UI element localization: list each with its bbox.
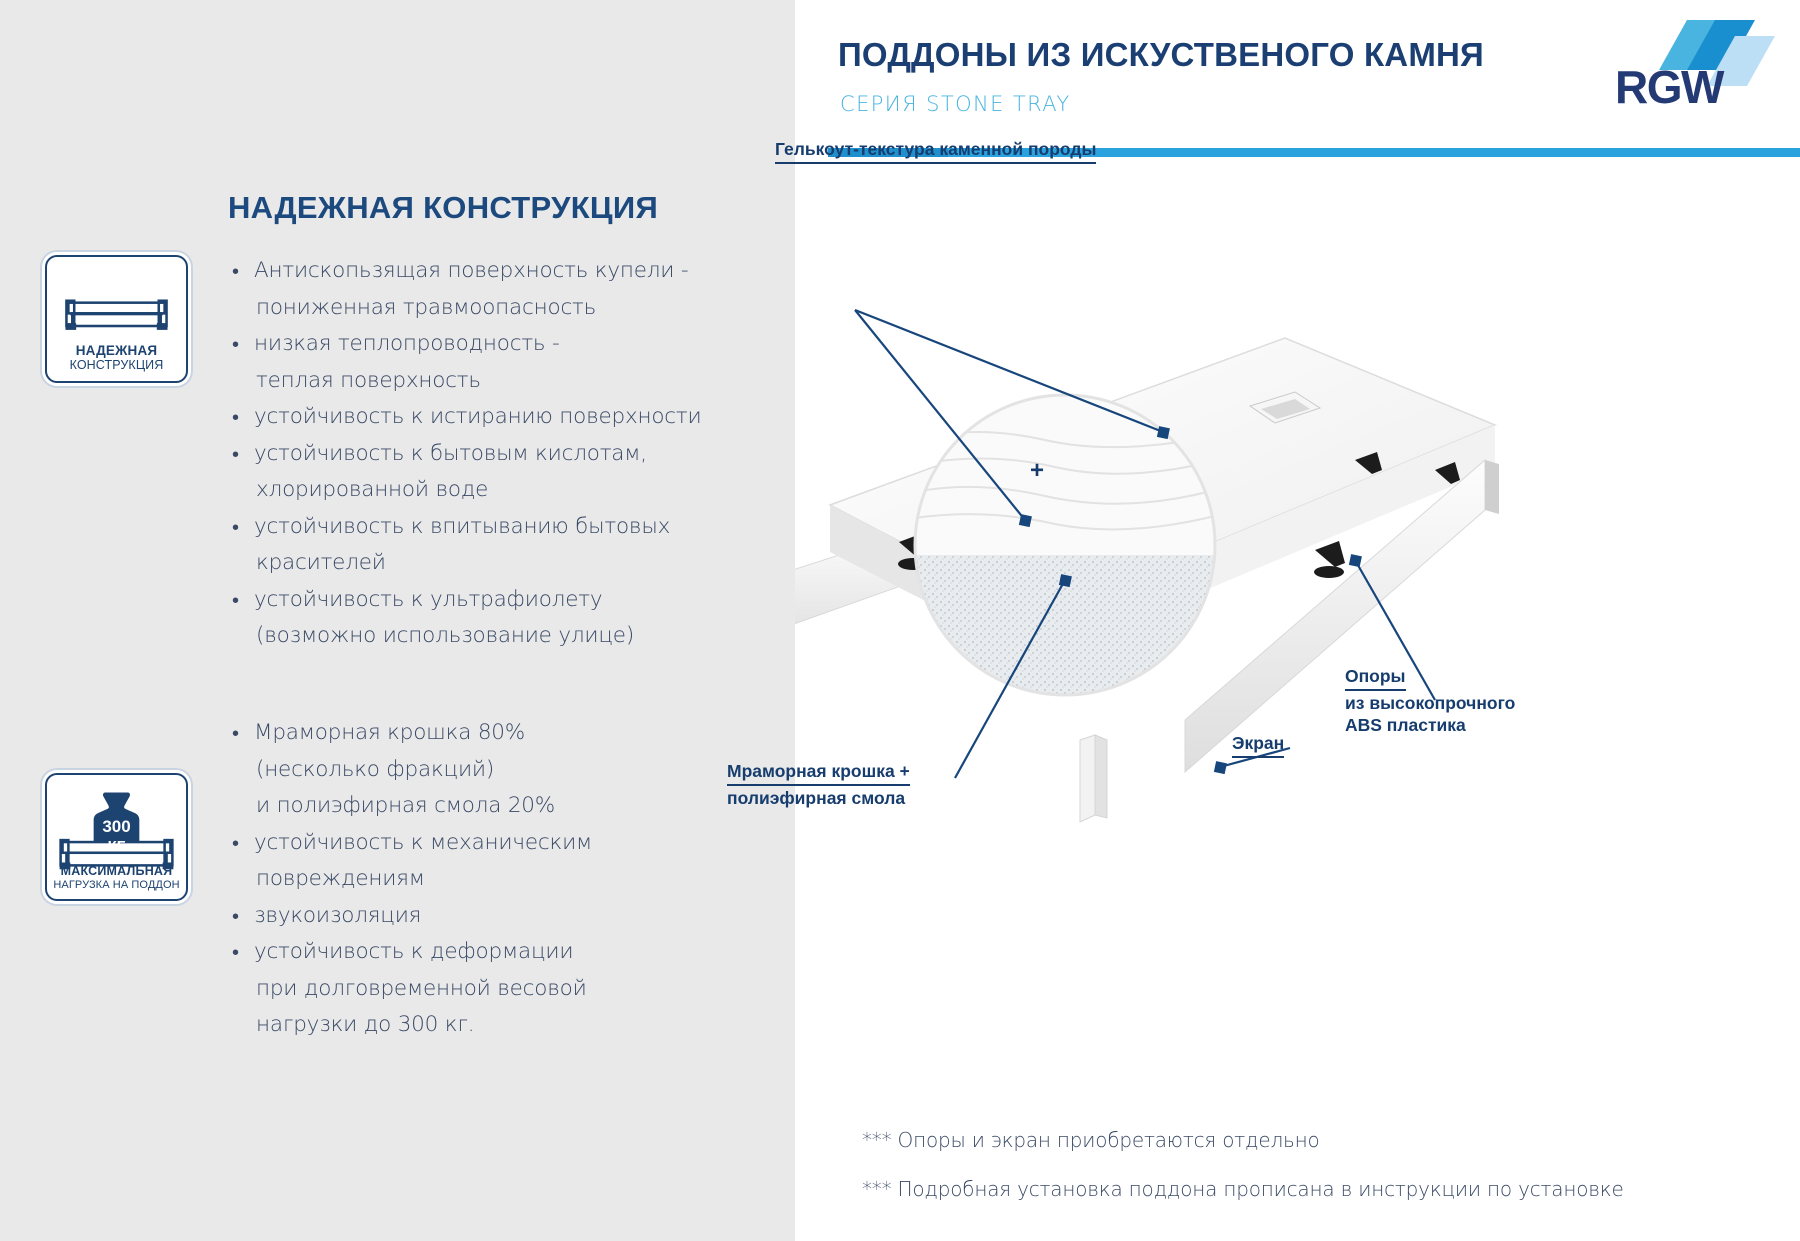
bullet-item: устойчивость к впитыванию бытовыхкрасите… xyxy=(228,509,758,582)
bullet-line: Антископьзящая поверхность купели - xyxy=(254,253,758,290)
logo-wordmark: RGW xyxy=(1615,60,1723,114)
bullet-line: устойчивость к механическим xyxy=(254,825,758,862)
bullet-line: теплая поверхность xyxy=(254,363,758,400)
label-marble-line2: полиэфирная смола xyxy=(727,787,905,809)
bullet-item: устойчивость к ультрафиолету(возможно ис… xyxy=(228,582,758,655)
bullet-line: красителей xyxy=(254,545,758,582)
corner-connector xyxy=(1080,735,1107,822)
bullet-item: Мраморная крошка 80%(несколько фракций) … xyxy=(228,715,758,825)
bullet-line: устойчивость к истиранию поверхности xyxy=(254,399,758,436)
section-heading: НАДЕЖНАЯ КОНСТРУКЦИЯ xyxy=(228,190,658,226)
weight-value-text: 300 КГ xyxy=(47,817,186,856)
label-marble-line1: Мраморная крошка + xyxy=(727,760,910,786)
bullet-item: Антископьзящая поверхность купели -пониж… xyxy=(228,253,758,326)
bullet-item: устойчивость к истиранию поверхности xyxy=(228,399,758,436)
page-title: ПОДДОНЫ ИЗ ИСКУСТВЕНОГО КАМНЯ xyxy=(838,36,1484,74)
zoom-plus-icon: + xyxy=(1030,460,1044,482)
bullet-line: и полиэфирная смола 20% xyxy=(254,788,758,825)
bullet-item: устойчивость к бытовым кислотам,хлориров… xyxy=(228,436,758,509)
bullet-list-1: Антископьзящая поверхность купели -пониж… xyxy=(228,253,758,655)
badge-reliable-construction: НАДЕЖНАЯ КОНСТРУКЦИЯ xyxy=(45,255,188,383)
label-gelcoat: Гелькоут-текстура каменной породы xyxy=(775,138,1096,164)
bullet-line: низкая теплопроводность - xyxy=(254,326,758,363)
footnote-2: *** Подробная установка поддона прописан… xyxy=(862,1177,1624,1201)
rgw-logo: RGW xyxy=(1615,18,1785,128)
product-diagram: Гелькоут-текстура каменной породы + Мрам… xyxy=(795,160,1800,1060)
bullet-line: Мраморная крошка 80% xyxy=(254,715,758,752)
weight-unit: КГ xyxy=(108,838,126,855)
label-supports-line2: из высокопрочного xyxy=(1345,692,1515,714)
badge-reliable-label: НАДЕЖНАЯ КОНСТРУКЦИЯ xyxy=(47,344,186,373)
bullet-item: звукоизоляция xyxy=(228,898,758,935)
bullet-line: нагрузки до 300 кг. xyxy=(254,1007,758,1044)
poster-page: НАДЕЖНАЯ КОНСТРУКЦИЯ xyxy=(0,0,1800,1241)
badge-max-load: 300 КГ МАКСИМАЛЬНАЯ НАГРУЗКА НА ПОДДОН xyxy=(45,773,188,901)
bullet-line: звукоизоляция xyxy=(254,898,758,935)
bullet-line: пониженная травмоопасность xyxy=(254,290,758,327)
diagram-illustration xyxy=(795,160,1800,1060)
weight-number: 300 xyxy=(102,817,130,836)
badge-column: НАДЕЖНАЯ КОНСТРУКЦИЯ xyxy=(45,255,195,901)
bullet-item: устойчивость к механическимповреждениям xyxy=(228,825,758,898)
badge-max-load-line2: НАГРУЗКА НА ПОДДОН xyxy=(47,879,186,891)
bullet-list-2: Мраморная крошка 80%(несколько фракций) … xyxy=(228,715,758,1044)
badge-reliable-line1: НАДЕЖНАЯ xyxy=(47,344,186,359)
bullet-line: хлорированной воде xyxy=(254,472,758,509)
bullet-line: (несколько фракций) xyxy=(254,752,758,789)
label-supports-line3: ABS пластика xyxy=(1345,714,1466,736)
bullet-line: устойчивость к бытовым кислотам, xyxy=(254,436,758,473)
page-subtitle: СЕРИЯ STONE TRAY xyxy=(840,92,1071,116)
bullet-line: повреждениям xyxy=(254,861,758,898)
bullet-line: устойчивость к деформации xyxy=(254,934,758,971)
badge-max-load-wrap: 300 КГ МАКСИМАЛЬНАЯ НАГРУЗКА НА ПОДДОН xyxy=(45,773,195,901)
bullet-line: при долговременной весовой xyxy=(254,971,758,1008)
badge-max-load-label: МАКСИМАЛЬНАЯ НАГРУЗКА НА ПОДДОН xyxy=(47,865,186,891)
bullet-line: устойчивость к ультрафиолету xyxy=(254,582,758,619)
badge-reliable-line2: КОНСТРУКЦИЯ xyxy=(47,359,186,373)
bullet-line: (возможно использование улице) xyxy=(254,618,758,655)
bullet-item: устойчивость к деформациипри долговремен… xyxy=(228,934,758,1044)
label-screen: Экран xyxy=(1232,732,1284,758)
footnote-1: *** Опоры и экран приобретаются отдельно xyxy=(862,1128,1320,1152)
bullet-line: устойчивость к впитыванию бытовых xyxy=(254,509,758,546)
bullet-item: низкая теплопроводность - теплая поверхн… xyxy=(228,326,758,399)
label-supports-line1: Опоры xyxy=(1345,665,1406,691)
badge-max-load-line1: МАКСИМАЛЬНАЯ xyxy=(47,865,186,879)
